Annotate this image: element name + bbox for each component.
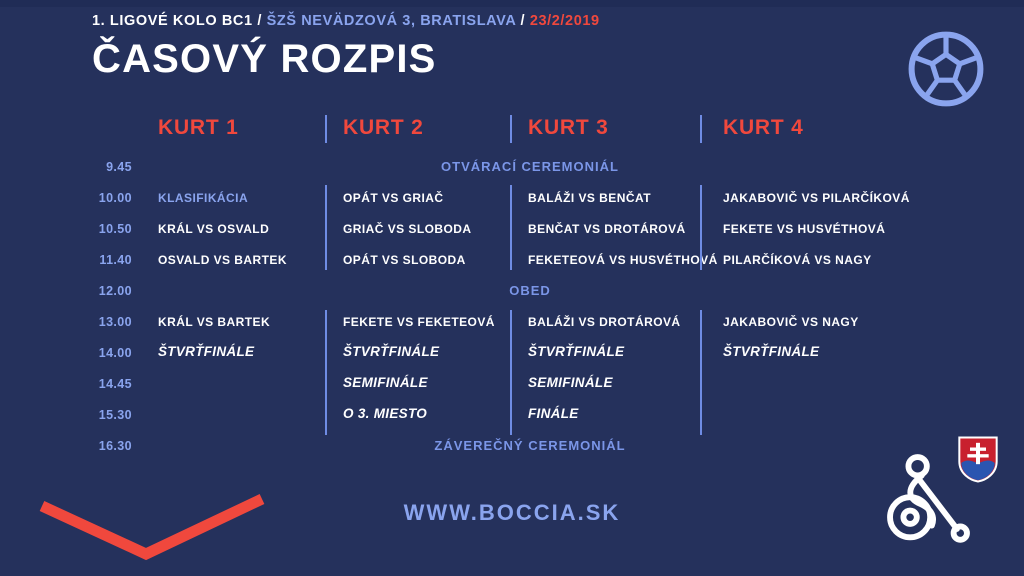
- court-divider-upper-3: [700, 185, 702, 270]
- ceremony-label: OBED: [140, 283, 920, 298]
- ceremony-row: 16.30ZÁVEREČNÝ CEREMONIÁL: [0, 431, 1024, 462]
- match-cell: OPÁT VS GRIAČ: [343, 191, 444, 205]
- schedule-poster: 1. LIGOVÉ KOLO BC1 / ŠZŠ NEVÄDZOVÁ 3, BR…: [0, 0, 1024, 576]
- court-header-row: KURT 1 KURT 2 KURT 3 KURT 4: [0, 110, 1024, 152]
- row-time: 12.00: [58, 284, 132, 298]
- schedule-rows: 9.45OTVÁRACÍ CEREMONIÁL10.00KLASIFIKÁCIA…: [0, 152, 1024, 462]
- match-cell: SEMIFINÁLE: [343, 375, 428, 390]
- match-cell: ŠTVRŤFINÁLE: [723, 344, 819, 359]
- row-time: 14.45: [58, 377, 132, 391]
- match-cell: OPÁT VS SLOBODA: [343, 253, 466, 267]
- table-row: 14.45SEMIFINÁLESEMIFINÁLE: [0, 369, 1024, 400]
- row-time: 14.00: [58, 346, 132, 360]
- poster-header: 1. LIGOVÉ KOLO BC1 / ŠZŠ NEVÄDZOVÁ 3, BR…: [92, 14, 852, 79]
- court-header-1: KURT 1: [158, 116, 239, 140]
- match-cell: BENČAT VS DROTÁROVÁ: [528, 222, 686, 236]
- table-row: 10.00KLASIFIKÁCIAOPÁT VS GRIAČBALÁŽI VS …: [0, 183, 1024, 214]
- match-cell: GRIAČ VS SLOBODA: [343, 222, 472, 236]
- match-cell: SEMIFINÁLE: [528, 375, 613, 390]
- row-time: 16.30: [58, 439, 132, 453]
- match-cell: KRÁL VS OSVALD: [158, 222, 269, 236]
- court-divider-header-1: [325, 115, 327, 143]
- match-cell: ŠTVRŤFINÁLE: [158, 344, 254, 359]
- soccer-ball-icon: [903, 26, 989, 112]
- court-header-4: KURT 4: [723, 116, 804, 140]
- kicker-league: 1. LIGOVÉ KOLO BC1: [92, 13, 253, 29]
- page-title: ČASOVÝ ROZPIS: [92, 39, 852, 79]
- match-cell: OSVALD VS BARTEK: [158, 253, 287, 267]
- table-row: 11.40OSVALD VS BARTEKOPÁT VS SLOBODAFEKE…: [0, 245, 1024, 276]
- court-header-2: KURT 2: [343, 116, 424, 140]
- row-time: 10.50: [58, 222, 132, 236]
- court-divider-upper-1: [325, 185, 327, 270]
- event-kicker: 1. LIGOVÉ KOLO BC1 / ŠZŠ NEVÄDZOVÁ 3, BR…: [92, 14, 852, 29]
- match-cell: JAKABOVIČ VS NAGY: [723, 315, 859, 329]
- match-cell: O 3. MIESTO: [343, 406, 427, 421]
- ceremony-label: OTVÁRACÍ CEREMONIÁL: [140, 159, 920, 174]
- ceremony-row: 9.45OTVÁRACÍ CEREMONIÁL: [0, 152, 1024, 183]
- court-divider-upper-2: [510, 185, 512, 270]
- row-time: 9.45: [58, 160, 132, 174]
- ceremony-row: 12.00OBED: [0, 276, 1024, 307]
- court-divider-lower-1: [325, 310, 327, 435]
- match-cell: FEKETE VS FEKETEOVÁ: [343, 315, 495, 329]
- court-divider-lower-2: [510, 310, 512, 435]
- footer-logos: [880, 436, 1010, 561]
- kicker-venue: ŠZŠ NEVÄDZOVÁ 3, BRATISLAVA: [267, 13, 516, 29]
- red-chevron-shape: [28, 482, 278, 572]
- match-cell: FINÁLE: [528, 406, 579, 421]
- ceremony-label: ZÁVEREČNÝ CEREMONIÁL: [140, 438, 920, 453]
- slovak-coat-of-arms-icon: [958, 436, 998, 488]
- match-cell: BALÁŽI VS BENČAT: [528, 191, 651, 205]
- kicker-separator-1: /: [257, 13, 262, 29]
- match-cell: ŠTVRŤFINÁLE: [528, 344, 624, 359]
- table-row: 13.00KRÁL VS BARTEKFEKETE VS FEKETEOVÁBA…: [0, 307, 1024, 338]
- table-row: 10.50KRÁL VS OSVALDGRIAČ VS SLOBODABENČA…: [0, 214, 1024, 245]
- court-header-3: KURT 3: [528, 116, 609, 140]
- table-row: 15.30O 3. MIESTOFINÁLE: [0, 400, 1024, 431]
- match-cell: ŠTVRŤFINÁLE: [343, 344, 439, 359]
- table-row: 14.00ŠTVRŤFINÁLEŠTVRŤFINÁLEŠTVRŤFINÁLEŠT…: [0, 338, 1024, 369]
- match-cell: FEKETE VS HUSVÉTHOVÁ: [723, 222, 885, 236]
- court-divider-header-3: [700, 115, 702, 143]
- row-time: 10.00: [58, 191, 132, 205]
- row-time: 11.40: [58, 253, 132, 267]
- court-divider-header-2: [510, 115, 512, 143]
- match-cell: JAKABOVIČ VS PILARČÍKOVÁ: [723, 191, 910, 205]
- row-time: 13.00: [58, 315, 132, 329]
- schedule-grid: KURT 1 KURT 2 KURT 3 KURT 4 9.45OTVÁRACÍ…: [0, 110, 1024, 462]
- match-cell: FEKETEOVÁ VS HUSVÉTHOVÁ: [528, 253, 718, 267]
- row-time: 15.30: [58, 408, 132, 422]
- match-cell: PILARČÍKOVÁ VS NAGY: [723, 253, 872, 267]
- match-cell: KRÁL VS BARTEK: [158, 315, 270, 329]
- match-cell: KLASIFIKÁCIA: [158, 191, 248, 205]
- kicker-date: 23/2/2019: [530, 13, 600, 29]
- court-divider-lower-3: [700, 310, 702, 435]
- kicker-separator-2: /: [521, 13, 526, 29]
- match-cell: BALÁŽI VS DROTÁROVÁ: [528, 315, 681, 329]
- top-band: [0, 0, 1024, 7]
